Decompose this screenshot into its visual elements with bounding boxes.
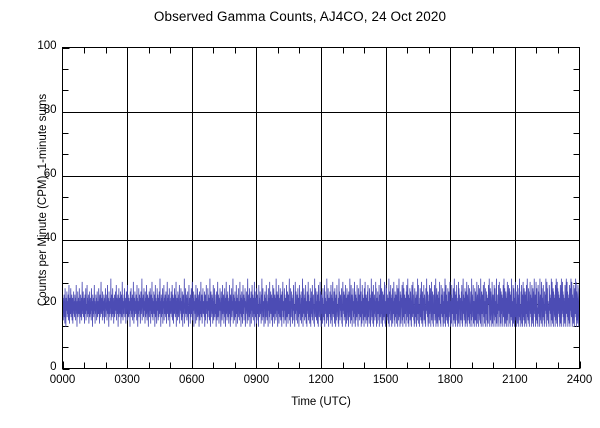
x-tick-label: 0900: [226, 374, 286, 386]
x-tick-label: 0000: [33, 374, 93, 386]
x-tick-label: 1800: [420, 374, 480, 386]
x-tick-label: 1200: [291, 374, 351, 386]
x-tick-label: 2400: [550, 374, 600, 386]
x-tick-label: 0600: [162, 374, 222, 386]
y-tick-label: 20: [17, 296, 57, 308]
y-tick-label: 40: [17, 232, 57, 244]
y-tick-label: 0: [17, 361, 57, 373]
y-tick-label: 60: [17, 168, 57, 180]
x-tick-label: 2100: [485, 374, 545, 386]
gamma-counts-chart: Observed Gamma Counts, AJ4CO, 24 Oct 202…: [0, 0, 600, 428]
y-tick-label: 80: [17, 104, 57, 116]
plot-area: [0, 0, 600, 428]
y-tick-label: 100: [17, 40, 57, 52]
x-tick-label: 1500: [356, 374, 416, 386]
x-tick-label: 0300: [97, 374, 157, 386]
